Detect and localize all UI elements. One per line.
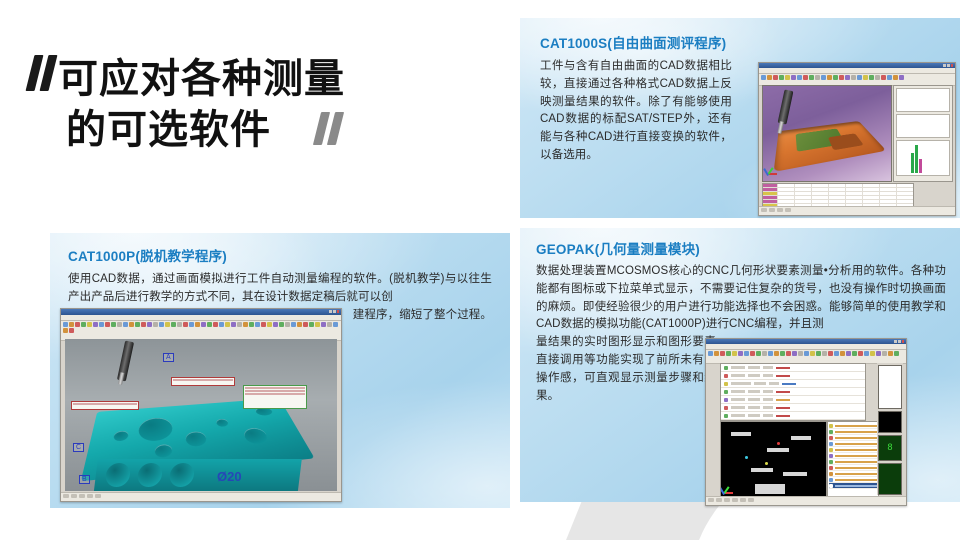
open-quote-icon xyxy=(30,55,58,95)
wireframe-label xyxy=(755,484,785,494)
axis-triad-icon xyxy=(725,482,737,494)
table-row xyxy=(721,412,865,420)
model-feature-bore xyxy=(168,463,195,487)
probe-tip xyxy=(117,341,134,382)
table-row xyxy=(721,388,865,396)
result-box-2 xyxy=(896,114,950,138)
measurement-point xyxy=(765,462,768,465)
numeric-keypad-panel xyxy=(878,463,902,495)
digital-readout-panel: 8 xyxy=(878,435,902,461)
title-line-2: 的可选软件 xyxy=(66,106,271,155)
dimension-callout xyxy=(243,385,307,409)
slide-canvas: 可应对各种测量 的可选软件 CAT1000S(自由曲面测评程序) 工件与含有自由… xyxy=(0,0,960,540)
cat1000p-offline-teaching-screenshot: A C B Ø20 xyxy=(60,308,342,502)
evaluation-sidepane xyxy=(893,85,953,182)
datum-label-c: C xyxy=(73,443,84,452)
result-box-1 xyxy=(896,88,950,112)
model-feature-hole xyxy=(155,444,173,458)
tree-panel xyxy=(878,365,902,409)
window-titlebar xyxy=(759,63,955,68)
window-toolbar xyxy=(61,321,341,341)
close-quote-icon xyxy=(317,112,345,149)
window-toolbar xyxy=(706,350,906,364)
measurement-step-table xyxy=(720,363,866,421)
model-feature-hole xyxy=(113,430,129,441)
table-row xyxy=(721,372,865,380)
model-feature-hole xyxy=(185,431,208,447)
dimension-callout xyxy=(71,401,139,410)
axis-triad-icon xyxy=(769,163,781,175)
measurement-element-list xyxy=(827,421,879,501)
panel-geopak-heading: GEOPAK(几何量测量模块) xyxy=(536,238,960,258)
measurement-point xyxy=(745,456,748,459)
datum-label-a: A xyxy=(163,353,174,362)
cad-wireframe-viewport xyxy=(720,421,827,499)
table-row xyxy=(721,404,865,412)
deviation-histogram xyxy=(896,140,950,176)
cad-3d-viewport: A C B Ø20 xyxy=(65,339,337,491)
table-row xyxy=(721,380,865,388)
panel-cat1000p-body-p1: 使用CAD数据，通过画面模拟进行工件自动测量编程的软件。(脱机教学)与以往生产出… xyxy=(68,271,492,307)
geopak-measurement-module-screenshot: 8 xyxy=(705,338,907,506)
panel-cat1000s-heading: CAT1000S(自由曲面测评程序) xyxy=(540,32,960,52)
window-statusbar xyxy=(61,492,341,501)
window-titlebar xyxy=(61,309,341,315)
wireframe-label xyxy=(751,468,773,472)
panel-cat1000p-heading: CAT1000P(脱机教学程序) xyxy=(68,245,510,265)
cat1000s-cad-evaluation-screenshot xyxy=(758,62,956,216)
camera-view-panel xyxy=(878,411,902,433)
panel-geopak-body-p2: 量结果的实时图形显示和图形要素直接调用等功能实现了前所未有的操作感，可直观显示测… xyxy=(536,334,716,405)
panel-geopak-body-p1: 数据处理装置MCOSMOS核心的CNC几何形状要素测量•分析用的软件。各种功能都… xyxy=(536,263,946,334)
cad-3d-viewport xyxy=(762,85,892,182)
readout-value: 8 xyxy=(879,436,901,460)
model-feature-bore xyxy=(136,463,163,487)
workpiece-side-face xyxy=(92,459,302,491)
wireframe-label xyxy=(767,448,789,452)
slide-title: 可应对各种测量 的可选软件 xyxy=(30,55,500,155)
wireframe-label xyxy=(731,432,751,436)
title-line-1: 可应对各种测量 xyxy=(58,55,345,104)
model-feature-bore xyxy=(104,463,131,487)
window-titlebar xyxy=(706,339,906,344)
dimension-label: Ø20 xyxy=(217,469,242,484)
table-row xyxy=(721,396,865,404)
table-row xyxy=(721,364,865,372)
model-feature-hole xyxy=(242,427,270,444)
panel-cat1000s-body: 工件与含有自由曲面的CAD数据相比较，直接通过各种格式CAD数据上反映测量结果的… xyxy=(540,58,732,165)
probe-tip xyxy=(778,89,794,124)
instrument-sidepane: 8 xyxy=(877,363,903,495)
window-statusbar xyxy=(706,496,906,505)
wireframe-label xyxy=(791,436,811,440)
model-feature-hole xyxy=(138,417,173,443)
wireframe-label xyxy=(783,472,807,476)
measurement-point xyxy=(777,442,780,445)
workpiece-model-orange xyxy=(774,121,887,172)
model-feature-hole xyxy=(216,419,230,428)
dimension-callout xyxy=(171,377,235,386)
window-statusbar xyxy=(759,206,955,215)
list-item-selected[interactable] xyxy=(829,483,877,489)
datum-label-b: B xyxy=(79,475,90,484)
